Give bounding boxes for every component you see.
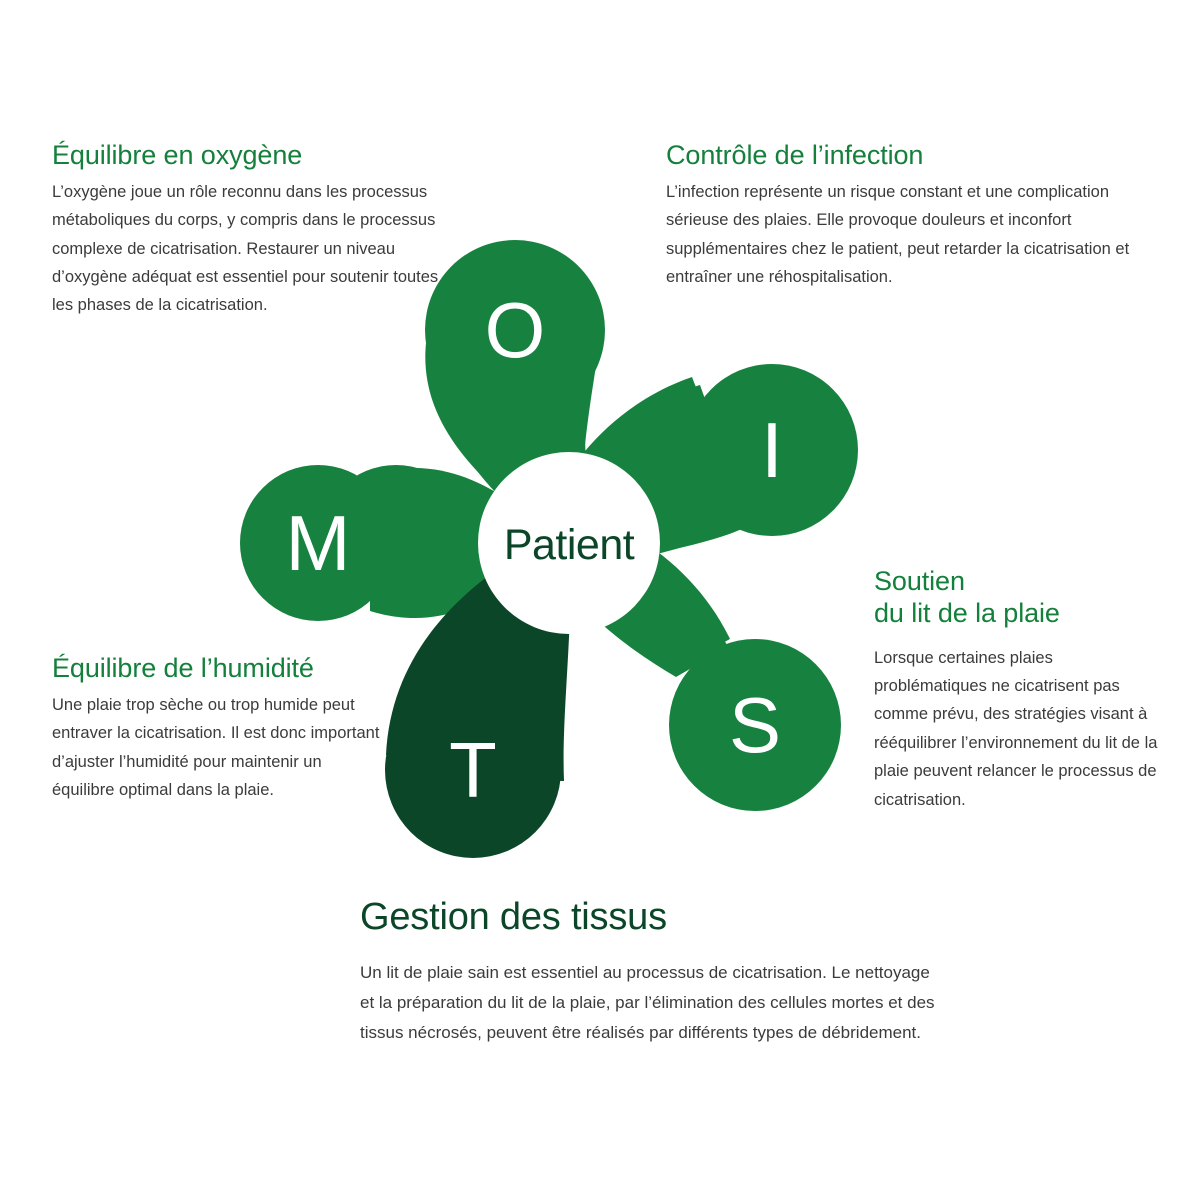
tissue-body: Un lit de plaie sain est essentiel au pr… [360, 958, 940, 1049]
petal-letter-o: O [485, 286, 546, 374]
infection-heading: Contrôle de l’infection [666, 140, 1146, 172]
petal-letter-i: I [761, 406, 783, 494]
support-body: Lorsque certaines plaies problématiques … [874, 644, 1164, 814]
petal-letter-t: T [449, 726, 497, 814]
support-heading: Soutien du lit de la plaie [874, 566, 1164, 630]
section-tissue: Gestion des tissus Un lit de plaie sain … [360, 895, 940, 1049]
support-heading-line2: du lit de la plaie [874, 598, 1060, 628]
center-label-patient: Patient [504, 521, 635, 569]
petal-letter-s: S [729, 681, 781, 769]
support-heading-line1: Soutien [874, 566, 965, 596]
tissue-heading: Gestion des tissus [360, 895, 940, 940]
moist-flower-diagram: M O I S T [230, 225, 870, 885]
section-wound-bed-support: Soutien du lit de la plaie Lorsque certa… [874, 566, 1164, 814]
petal-letter-m: M [286, 499, 351, 587]
oxygen-heading: Équilibre en oxygène [52, 140, 452, 172]
